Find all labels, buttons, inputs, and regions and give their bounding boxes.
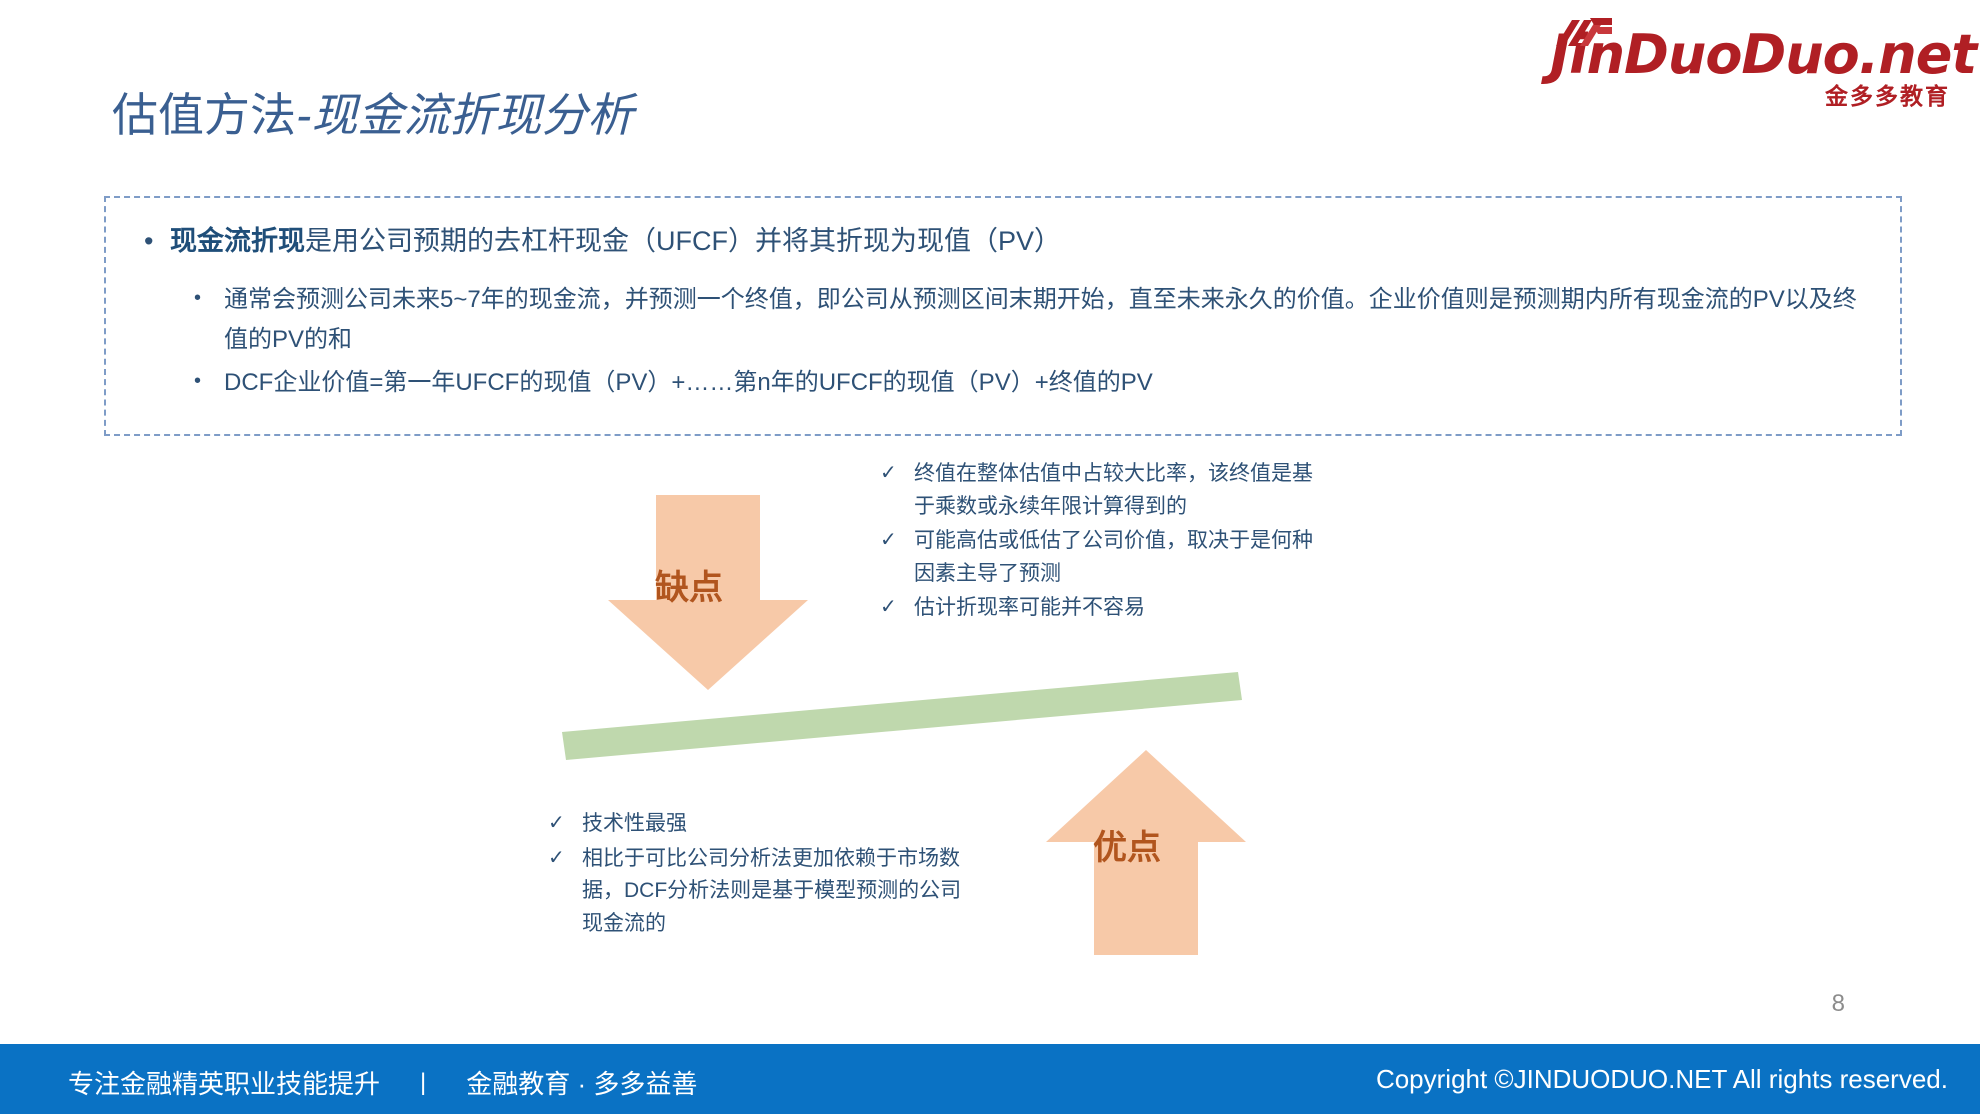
list-item: • DCF企业价值=第一年UFCF的现值（PV）+……第n年的UFCF的现值（P… (194, 363, 1874, 403)
arrow-logo-icon (1550, 16, 1620, 52)
main-bullet: • 现金流折现是用公司预期的去杠杆现金（UFCF）并将其折现为现值（PV） (144, 222, 1061, 261)
cons-item-text: 终值在整体估值中占较大比率，该终值是基于乘数或永续年限计算得到的 (914, 458, 1320, 523)
bullet-dot-icon: • (144, 222, 170, 261)
check-icon: ✓ (880, 525, 914, 556)
pros-arrow-label: 优点 (1093, 820, 1161, 869)
content-box: • 现金流折现是用公司预期的去杠杆现金（UFCF）并将其折现为现值（PV） • … (104, 196, 1902, 436)
check-icon: ✓ (548, 843, 582, 874)
slide-canvas: JinDuoDuo.net 金多多教育 估值方法-现金流折现分析 • 现金流折现… (0, 0, 1980, 1114)
footer-slogan: 金融教育 · 多多益善 (466, 1064, 697, 1101)
check-icon: ✓ (880, 458, 914, 489)
list-item: ✓ 终值在整体估值中占较大比率，该终值是基于乘数或永续年限计算得到的 (880, 458, 1320, 523)
cons-arrow-label: 缺点 (655, 560, 723, 609)
list-item: • 通常会预测公司未来5~7年的现金流，并预测一个终值，即公司从预测区间末期开始… (194, 280, 1874, 359)
bullet-dot-icon: • (194, 363, 224, 400)
page-title: 估值方法-现金流折现分析 (112, 92, 633, 138)
list-item: ✓ 可能高估或低估了公司价值，取决于是何种因素主导了预测 (880, 525, 1320, 590)
main-bullet-rest: 是用公司预期的去杠杆现金（UFCF）并将其折现为现值（PV） (305, 226, 1061, 256)
footer-tagline: 专注金融精英职业技能提升 (68, 1064, 380, 1101)
pros-item-text: 技术性最强 (582, 808, 968, 841)
pros-list: ✓ 技术性最强 ✓ 相比于可比公司分析法更加依赖于市场数据，DCF分析法则是基于… (548, 808, 968, 942)
cons-item-text: 可能高估或低估了公司价值，取决于是何种因素主导了预测 (914, 525, 1320, 590)
green-divider-bar (562, 672, 1242, 762)
logo-subtitle: 金多多教育 (1550, 86, 1950, 109)
footer-bar: 专注金融精英职业技能提升 | 金融教育 · 多多益善 Copyright ©JI… (0, 1044, 1980, 1114)
cons-list: ✓ 终值在整体估值中占较大比率，该终值是基于乘数或永续年限计算得到的 ✓ 可能高… (880, 458, 1320, 627)
list-item: ✓ 估计折现率可能并不容易 (880, 592, 1320, 625)
check-icon: ✓ (548, 808, 582, 839)
main-bullet-text: 现金流折现是用公司预期的去杠杆现金（UFCF）并将其折现为现值（PV） (170, 222, 1061, 261)
brand-logo: JinDuoDuo.net 金多多教育 (1550, 8, 1950, 108)
cons-item-text: 估计折现率可能并不容易 (914, 592, 1320, 625)
footer-left-group: 专注金融精英职业技能提升 | 金融教育 · 多多益善 (68, 1064, 697, 1101)
sub-bullet-text: 通常会预测公司未来5~7年的现金流，并预测一个终值，即公司从预测区间末期开始，直… (224, 280, 1874, 359)
sub-bullet-list: • 通常会预测公司未来5~7年的现金流，并预测一个终值，即公司从预测区间末期开始… (194, 280, 1874, 407)
page-number: 8 (1832, 990, 1845, 1018)
bullet-dot-icon: • (194, 280, 224, 317)
page-title-main: 估值方法 (112, 89, 296, 141)
pros-item-text: 相比于可比公司分析法更加依赖于市场数据，DCF分析法则是基于模型预测的公司现金流… (582, 843, 968, 941)
list-item: ✓ 相比于可比公司分析法更加依赖于市场数据，DCF分析法则是基于模型预测的公司现… (548, 843, 968, 941)
list-item: ✓ 技术性最强 (548, 808, 968, 841)
main-bullet-strong: 现金流折现 (170, 226, 305, 256)
check-icon: ✓ (880, 592, 914, 623)
sub-bullet-text: DCF企业价值=第一年UFCF的现值（PV）+……第n年的UFCF的现值（PV）… (224, 363, 1874, 403)
page-title-italic: -现金流折现分析 (296, 89, 633, 141)
footer-copyright: Copyright ©JINDUODUO.NET All rights rese… (1376, 1064, 1948, 1095)
footer-separator: | (420, 1069, 426, 1097)
